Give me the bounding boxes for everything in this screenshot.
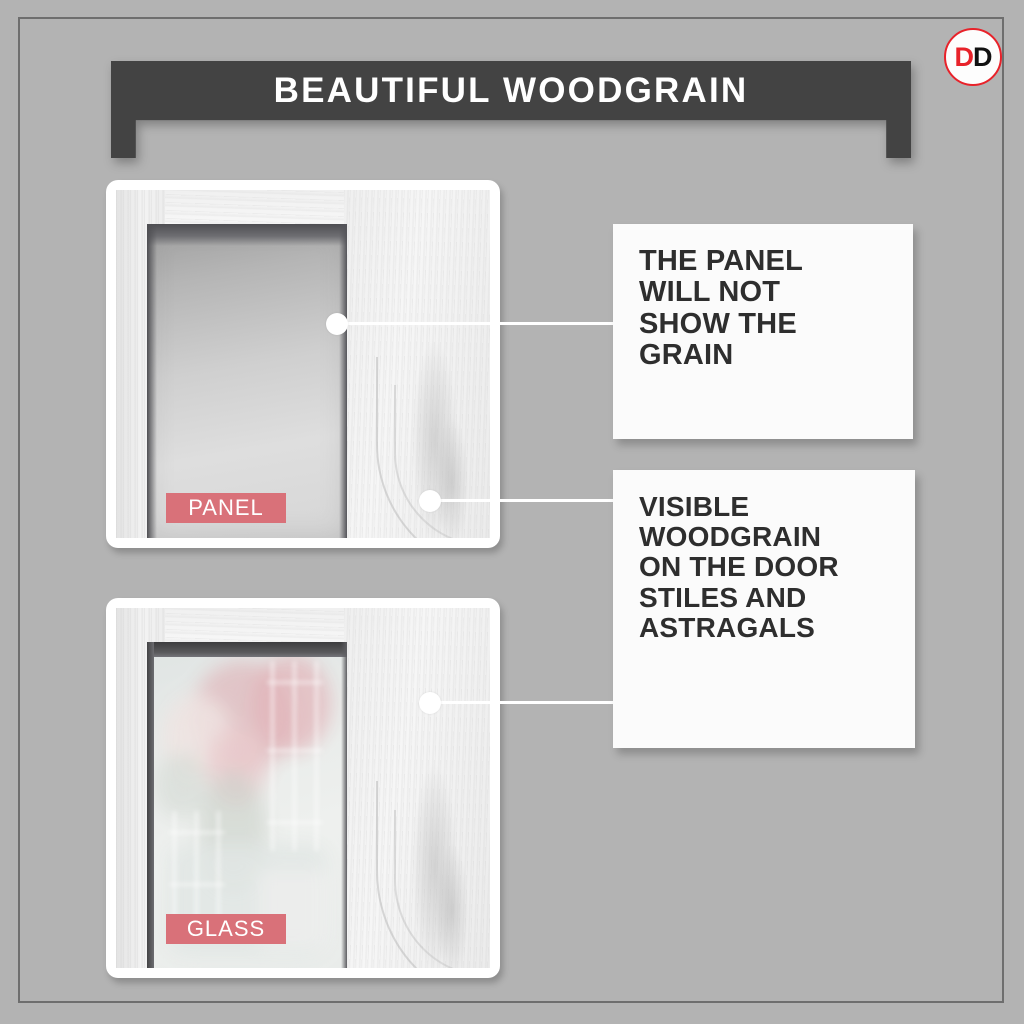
page-title: BEAUTIFUL WOODGRAIN — [111, 61, 911, 120]
mullion-reflection — [173, 811, 176, 922]
mullion-reflection — [195, 811, 198, 922]
door-stile-woodgrain — [344, 190, 490, 538]
mullion-reflection — [267, 749, 323, 752]
glass-stile-dot — [419, 692, 441, 714]
panel-left-shadow — [147, 224, 157, 538]
callout-panel-line: GRAIN — [639, 340, 887, 371]
callout-grain-line: VISIBLE — [639, 492, 889, 522]
panel-top-shadow — [147, 224, 347, 246]
logo-letter-second: D — [973, 44, 992, 71]
callout-grain: VISIBLE WOODGRAIN ON THE DOOR STILES AND… — [613, 470, 915, 748]
connector-grain-bottom — [432, 701, 615, 704]
callout-panel-line: SHOW THE — [639, 309, 887, 340]
infographic-canvas: DD BEAUTIFUL WOODGRAIN PANEL — [0, 0, 1024, 1024]
mullion-reflection — [267, 821, 323, 824]
glass-tag: GLASS — [166, 914, 286, 944]
callout-grain-line: STILES AND — [639, 583, 889, 613]
glass-frame-top — [147, 642, 347, 657]
glass-frame-left — [147, 642, 154, 968]
title-banner: BEAUTIFUL WOODGRAIN — [111, 61, 911, 158]
panel-recess-dot — [326, 313, 348, 335]
callout-panel: THE PANEL WILL NOT SHOW THE GRAIN — [613, 224, 913, 439]
mullion-reflection — [267, 681, 323, 684]
reflection-blob — [155, 753, 207, 818]
mullion-reflection — [169, 831, 225, 834]
mullion-reflection — [169, 883, 225, 886]
callout-grain-line: ON THE DOOR — [639, 552, 889, 582]
glass-frame-right — [341, 642, 347, 968]
recessed-panel — [147, 224, 347, 538]
panel-photo-image: PANEL — [116, 190, 490, 538]
callout-panel-line: WILL NOT — [639, 277, 887, 308]
panel-tag: PANEL — [166, 493, 286, 523]
connector-panel — [340, 322, 615, 325]
panel-right-bevel — [339, 224, 347, 538]
panel-stile-dot — [419, 490, 441, 512]
dd-logo: DD — [944, 28, 1002, 86]
callout-grain-line: ASTRAGALS — [639, 613, 889, 643]
glass-photo-image: GLASS — [116, 608, 490, 968]
reflection-blob — [251, 655, 331, 753]
glass-photo: GLASS — [106, 598, 500, 978]
door-stile-woodgrain — [344, 608, 490, 968]
callout-grain-line: WOODGRAIN — [639, 522, 889, 552]
panel-photo: PANEL — [106, 180, 500, 548]
connector-grain-top — [432, 499, 615, 502]
callout-panel-line: THE PANEL — [639, 246, 887, 277]
mullion-reflection — [217, 811, 220, 922]
logo-letter-first: D — [955, 44, 974, 71]
